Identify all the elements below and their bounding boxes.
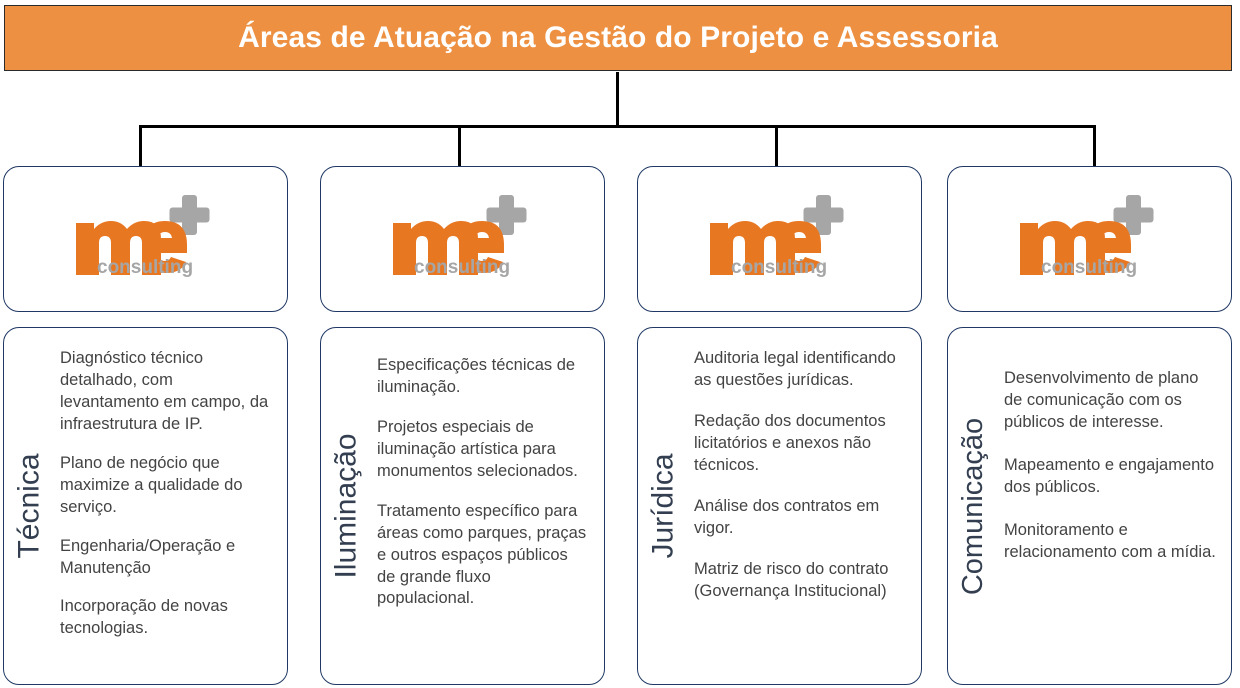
list-item: Engenharia/Operação e Manutenção — [60, 536, 273, 580]
content-box-4: Comunicação Desenvolvimento de plano de … — [947, 327, 1232, 685]
column-label-juridica: Jurídica — [649, 453, 679, 558]
bullet-list-1: Diagnóstico técnico detalhado, com levan… — [56, 328, 287, 684]
connector-horizontal-bar — [139, 125, 1096, 128]
content-box-3: Jurídica Auditoria legal identificando a… — [637, 327, 922, 685]
vertical-label-wrap-1: Técnica — [4, 328, 56, 684]
column-label-iluminacao: Iluminação — [332, 433, 362, 578]
page-title: Áreas de Atuação na Gestão do Projeto e … — [238, 21, 998, 55]
connector-drop-3 — [775, 127, 778, 168]
header-banner: Áreas de Atuação na Gestão do Projeto e … — [4, 5, 1232, 71]
connector-drop-4 — [1093, 127, 1096, 168]
logo-box-1: consulting — [3, 166, 288, 312]
svg-text:consulting: consulting — [1041, 257, 1137, 278]
connector-drop-1 — [139, 127, 142, 168]
list-item: Diagnóstico técnico detalhado, com levan… — [60, 348, 273, 436]
diagram-canvas: Áreas de Atuação na Gestão do Projeto e … — [0, 0, 1240, 688]
logo-box-4: consulting — [947, 166, 1232, 312]
me-consulting-logo-icon: consulting — [387, 193, 539, 285]
connector-stem — [616, 72, 619, 126]
me-consulting-logo-icon: consulting — [70, 193, 222, 285]
list-item: Projetos especiais de iluminação artísti… — [377, 417, 590, 483]
vertical-label-wrap-2: Iluminação — [321, 328, 373, 684]
me-consulting-logo-icon: consulting — [1014, 193, 1166, 285]
content-box-2: Iluminação Especificações técnicas de il… — [320, 327, 605, 685]
logo-box-2: consulting — [320, 166, 605, 312]
list-item: Desenvolvimento de plano de comunicação … — [1004, 368, 1221, 434]
vertical-label-wrap-3: Jurídica — [638, 328, 690, 684]
list-item: Monitoramento e relacionamento com a míd… — [1004, 520, 1221, 564]
list-item: Análise dos contratos em vigor. — [694, 496, 907, 540]
list-item: Mapeamento e engajamento dos públicos. — [1004, 455, 1221, 499]
bullet-list-4: Desenvolvimento de plano de comunicação … — [1000, 328, 1231, 684]
vertical-label-wrap-4: Comunicação — [948, 328, 1000, 684]
list-item: Incorporação de novas tecnologias. — [60, 596, 273, 640]
list-item: Especificações técnicas de iluminação. — [377, 355, 590, 399]
bullet-list-3: Auditoria legal identificando as questõe… — [690, 328, 921, 684]
logo-box-3: consulting — [637, 166, 922, 312]
bullet-list-2: Especificações técnicas de iluminação. P… — [373, 328, 604, 684]
list-item: Tratamento específico para áreas como pa… — [377, 501, 590, 611]
list-item: Redação dos documentos licitatórios e an… — [694, 411, 907, 477]
me-consulting-logo-icon: consulting — [704, 193, 856, 285]
list-item: Plano de negócio que maximize a qualidad… — [60, 453, 273, 519]
svg-text:consulting: consulting — [731, 257, 827, 278]
list-item: Matriz de risco do contrato (Governança … — [694, 559, 907, 603]
svg-text:consulting: consulting — [97, 257, 193, 278]
svg-text:consulting: consulting — [414, 257, 510, 278]
list-item: Auditoria legal identificando as questõe… — [694, 348, 907, 392]
column-label-comunicacao: Comunicação — [960, 417, 989, 594]
column-label-tecnica: Técnica — [15, 453, 45, 558]
connector-drop-2 — [458, 127, 461, 168]
content-box-1: Técnica Diagnóstico técnico detalhado, c… — [3, 327, 288, 685]
